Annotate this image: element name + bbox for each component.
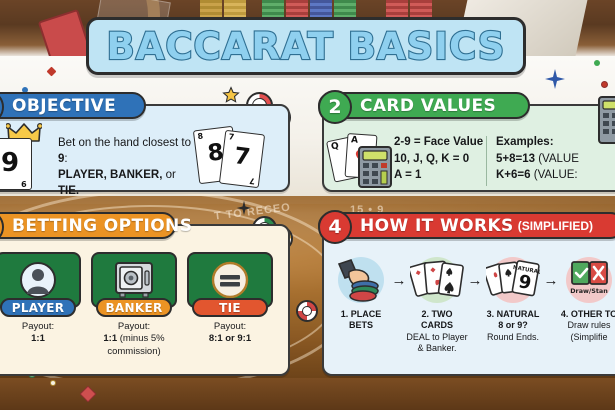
calculator-icon: [358, 146, 392, 188]
step-caption: 1. PLACE BETS: [341, 309, 382, 332]
example-row: K+6=6 (VALUE:: [496, 167, 579, 184]
examples-label: Examples:: [496, 136, 554, 148]
card-value-rule: A = 1: [394, 167, 483, 184]
card-rank-corner: A: [351, 135, 359, 145]
header-card-values-label: CARD VALUES: [360, 96, 496, 116]
step-caption: 4. OTHER TO Draw rules (Simplifie: [561, 309, 615, 343]
option-pill-banker: BANKER: [96, 298, 172, 317]
betting-option-player[interactable]: PLAYER Payout: 1:1: [0, 252, 82, 358]
objective-prefix: Bet on the hand closest to: [58, 137, 191, 149]
equals-icon: [211, 261, 249, 299]
header-objective-label: OBJECTIVE: [12, 96, 116, 116]
example-note: (VALUE: [538, 153, 579, 165]
example-expression: 5+8=13: [496, 153, 535, 165]
arrow-icon: →: [468, 254, 482, 306]
option-label: TIE: [219, 301, 241, 315]
step-place-bets: 1. PLACE BETS: [330, 254, 392, 332]
objective-or: or: [162, 169, 175, 181]
option-label: PLAYER: [12, 301, 65, 315]
how-it-works-steps: 1. PLACE BETS →: [330, 254, 615, 354]
section-number-badge: 2: [318, 90, 352, 124]
step-caption: 2. TWO CARDS DEAL to Player & Banker.: [406, 309, 468, 354]
option-payout: Payout: 8:1 or 9:1: [209, 321, 251, 346]
step-icon-wrap: [333, 254, 389, 306]
betting-option-banker[interactable]: BANKER Payout: 1:1 (minus 5% commission): [90, 252, 178, 358]
objective-colon: :: [64, 153, 67, 165]
step-line-2: Draw rules: [561, 320, 615, 331]
betting-options-grid: PLAYER Payout: 1:1: [0, 252, 276, 358]
objective-line-1: Bet on the hand closest to 9:: [58, 136, 198, 167]
sparkle-icon: [544, 68, 566, 90]
confetti-dot: [601, 81, 608, 88]
arrow-icon: →: [544, 254, 558, 306]
card-rank-corner: 7: [249, 176, 256, 186]
card-seven: 7 7 7: [219, 130, 265, 188]
step-icon-wrap: NATURAL 9: [485, 254, 541, 306]
sparkle-icon: [236, 200, 252, 216]
calculator-icon: [598, 96, 615, 144]
step-other-totals: Draw/Stan 4. OTHER TO Draw rules (Simpli…: [558, 254, 615, 343]
card-value-rule: 10, J, Q, K = 0: [394, 151, 483, 168]
section-number-badge: 4: [318, 210, 352, 244]
step-line-2: BETS: [349, 320, 373, 330]
payout-label: Payout:: [22, 321, 54, 333]
step-line-1: 3. NATURAL: [487, 309, 540, 319]
three-cards-icon: [410, 256, 464, 304]
example-expression: K+6=6: [496, 169, 531, 181]
step-line-3: Round Ends.: [487, 332, 540, 343]
step-line-1: 4. OTHER TO: [561, 309, 615, 319]
option-pill-tie: TIE: [192, 298, 268, 317]
card-nine: 9 9 9: [0, 138, 32, 190]
payout-label: Payout:: [209, 321, 251, 333]
payout-value: 1:1: [103, 333, 117, 344]
step-line-3: & Banker.: [406, 343, 468, 354]
card-rank-corner: Q: [330, 141, 340, 152]
page-title: BACCARAT BASICS: [86, 17, 526, 75]
betting-option-tie[interactable]: TIE Payout: 8:1 or 9:1: [186, 252, 274, 358]
payout-value: 8:1 or 9:1: [209, 333, 251, 344]
draw-stand-icon: Draw/Stan: [562, 256, 615, 304]
step-line-1: 2. TWO CARDS: [421, 309, 453, 330]
confetti-dot: [50, 380, 56, 386]
step-two-cards-deal: 2. TWO CARDS DEAL to Player & Banker.: [406, 254, 468, 354]
example-note: (VALUE:: [534, 169, 578, 181]
section-number-badge: 1: [0, 90, 4, 124]
safe-icon: [114, 261, 154, 299]
section-number-badge: 3: [0, 210, 4, 244]
objective-banker: BANKER,: [110, 169, 162, 181]
objective-line-2: PLAYER, BANKER, or TIE.: [58, 168, 198, 199]
step-icon-wrap: Draw/Stan: [561, 254, 615, 306]
person-icon: [19, 261, 57, 299]
card-rank-corner: 7: [228, 132, 235, 142]
step-line-2: DEAL to Player: [406, 332, 468, 343]
payout-value: 1:1: [31, 333, 45, 344]
card-values-examples: Examples: 5+8=13 (VALUE K+6=6 (VALUE:: [496, 134, 579, 184]
step-line-1: 1. PLACE: [341, 309, 382, 319]
step-icon-wrap: [409, 254, 465, 306]
option-payout: Payout: 1:1 (minus 5% commission): [90, 321, 178, 358]
card-rank-center: 7: [222, 142, 263, 172]
arrow-icon: →: [392, 254, 406, 306]
header-how-it-works-label: HOW IT WORKS: [360, 216, 514, 236]
natural-nine-icon: NATURAL 9: [486, 256, 540, 304]
panel-betting-options: PLAYER Payout: 1:1: [0, 224, 290, 376]
star-icon: [222, 86, 240, 104]
page-title-text: BACCARAT BASICS: [107, 25, 506, 68]
panel-how-it-works: 1. PLACE BETS →: [322, 224, 615, 376]
header-how-it-works[interactable]: 4 HOW IT WORKS (SIMPLIFIED): [318, 212, 615, 239]
hand-chips-icon: [335, 256, 387, 304]
option-label: BANKER: [105, 301, 162, 315]
header-betting-options-label: BETTING OPTIONS: [12, 216, 192, 236]
objective-hand-cards: 8 8 7 7 7: [190, 124, 278, 190]
infographic-canvas: T TO RECEO 15 • 9 3 26 BACCARAT BASICS: [0, 0, 615, 410]
card-value-rule: 2-9 = Face Value: [394, 134, 483, 151]
card-values-rules: 2-9 = Face Value 10, J, Q, K = 0 A = 1: [394, 134, 483, 184]
option-pill-player: PLAYER: [0, 298, 76, 317]
header-betting-options[interactable]: 3 BETTING OPTIONS: [0, 212, 176, 239]
header-objective[interactable]: 1 OBJECTIVE: [0, 92, 146, 119]
payout-label: Payout:: [90, 321, 178, 333]
draw-stand-caption: Draw/Stan: [570, 287, 608, 295]
header-how-it-works-suffix: (SIMPLIFIED): [518, 219, 593, 233]
card-rank-corner: 9: [21, 179, 27, 188]
option-payout: Payout: 1:1: [22, 321, 54, 346]
step-caption: 3. NATURAL 8 or 9? Round Ends.: [487, 309, 540, 343]
header-card-values[interactable]: 2 CARD VALUES: [318, 92, 530, 119]
card-rank-corner: 8: [197, 131, 204, 141]
chip-decoration: [296, 300, 318, 322]
objective-body: Bet on the hand closest to 9: PLAYER, BA…: [58, 136, 198, 199]
card-rank-center: 9: [0, 148, 31, 178]
step-line-3: (Simplifie: [561, 332, 615, 343]
objective-tie: TIE.: [58, 185, 79, 197]
confetti-dot: [594, 60, 600, 66]
example-row: 5+8=13 (VALUE: [496, 151, 579, 168]
objective-card-group: 9 9 9: [0, 128, 48, 190]
card-values-icon-group: Q A: [330, 130, 394, 188]
step-natural: NATURAL 9 3. NATURAL 8 or 9? Round Ends.: [482, 254, 544, 343]
divider: [486, 136, 487, 186]
objective-player: PLAYER,: [58, 169, 107, 181]
step-line-2: 8 or 9?: [498, 320, 528, 330]
